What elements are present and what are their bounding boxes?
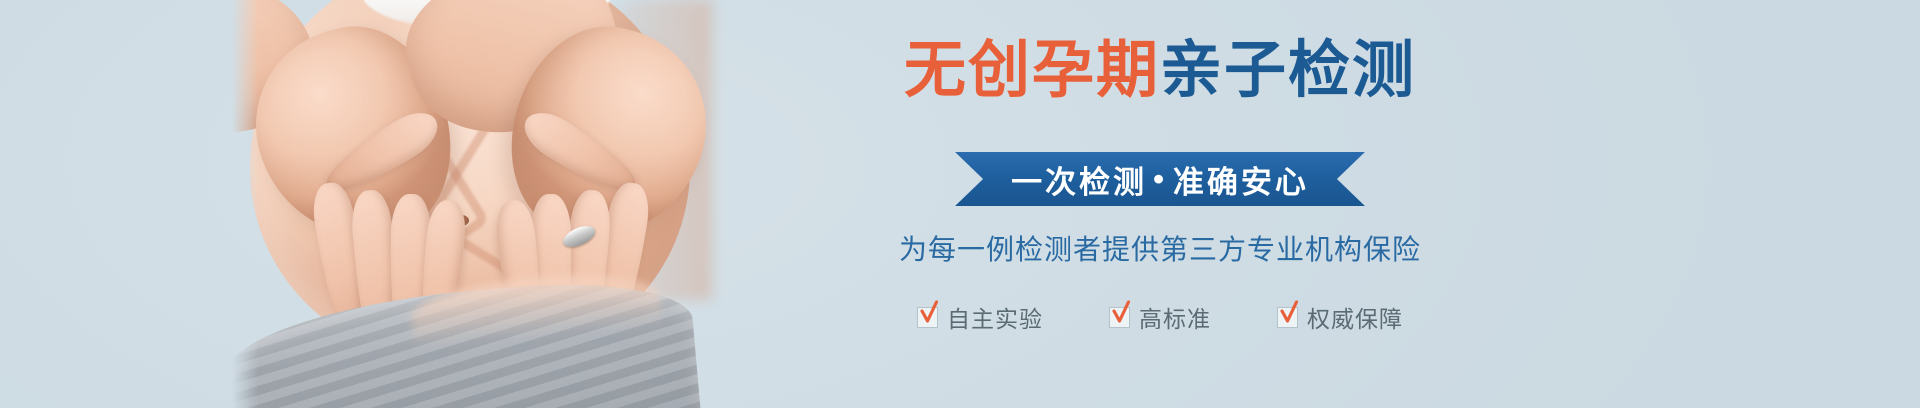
feature-item: 高标准 bbox=[1109, 300, 1211, 334]
checkbox-checked-icon bbox=[1277, 307, 1298, 328]
promo-banner: 无创孕期亲子检测 一次检测 • 准确安心 为每一例检测者提供第三方专业机构保险 … bbox=[0, 0, 1920, 408]
checkbox-checked-icon bbox=[1109, 307, 1130, 328]
headline: 无创孕期亲子检测 bbox=[760, 34, 1560, 107]
feature-item: 权威保障 bbox=[1277, 300, 1403, 334]
feature-label: 权威保障 bbox=[1307, 300, 1403, 334]
feature-label: 高标准 bbox=[1139, 300, 1211, 334]
headline-orange: 无创孕期 bbox=[904, 36, 1160, 105]
banner-content: 无创孕期亲子检测 一次检测 • 准确安心 为每一例检测者提供第三方专业机构保险 … bbox=[760, 0, 1560, 408]
ribbon-separator: • bbox=[1153, 161, 1167, 197]
feature-list: 自主实验 高标准 权威保障 bbox=[760, 300, 1560, 334]
check-mark-icon bbox=[1111, 300, 1131, 324]
subtitle: 为每一例检测者提供第三方专业机构保险 bbox=[760, 228, 1560, 268]
checkbox-checked-icon bbox=[917, 307, 938, 328]
pregnant-belly-photo bbox=[232, 0, 748, 408]
feature-item: 自主实验 bbox=[917, 300, 1043, 334]
feature-label: 自主实验 bbox=[947, 300, 1043, 334]
ribbon-text-left: 一次检测 bbox=[1011, 157, 1147, 202]
tagline-ribbon: 一次检测 • 准确安心 bbox=[955, 152, 1365, 206]
check-mark-icon bbox=[1279, 300, 1299, 324]
ribbon-text-right: 准确安心 bbox=[1173, 157, 1309, 202]
ribbon-container: 一次检测 • 准确安心 bbox=[760, 152, 1560, 206]
check-mark-icon bbox=[919, 300, 939, 324]
headline-blue: 亲子检测 bbox=[1160, 36, 1416, 105]
